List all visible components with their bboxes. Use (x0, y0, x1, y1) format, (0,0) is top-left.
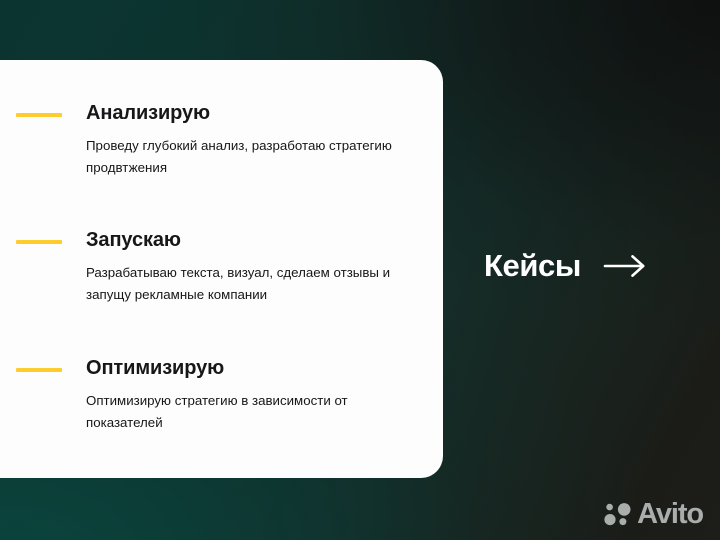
step-title: Оптимизирую (86, 357, 425, 379)
step-item: Оптимизирую Оптимизирую стратегию в зави… (0, 357, 443, 433)
avito-logo: Avito (604, 500, 703, 529)
cases-cta-label: Кейсы (484, 250, 581, 281)
step-description: Проведу глубокий анализ, разработаю стра… (86, 135, 425, 178)
cases-cta[interactable]: Кейсы (484, 250, 647, 281)
step-description: Разрабатываю текста, визуал, сделаем отз… (86, 262, 425, 305)
avito-dots-icon (604, 502, 634, 528)
step-body: Анализирую Проведу глубокий анализ, разр… (86, 102, 443, 178)
step-body: Запускаю Разрабатываю текста, визуал, сд… (86, 229, 443, 305)
step-item: Запускаю Разрабатываю текста, визуал, сд… (0, 229, 443, 305)
step-item: Анализирую Проведу глубокий анализ, разр… (0, 102, 443, 178)
steps-list: Анализирую Проведу глубокий анализ, разр… (0, 60, 443, 478)
step-title: Запускаю (86, 229, 425, 251)
accent-rule (16, 113, 62, 117)
accent-rule (16, 240, 62, 244)
step-description: Оптимизирую стратегию в зависимости от п… (86, 390, 425, 433)
arrow-right-icon (603, 253, 647, 279)
steps-card: Анализирую Проведу глубокий анализ, разр… (0, 60, 443, 478)
avito-wordmark: Avito (637, 500, 703, 529)
step-body: Оптимизирую Оптимизирую стратегию в зави… (86, 357, 443, 433)
accent-rule (16, 368, 62, 372)
step-title: Анализирую (86, 102, 425, 124)
slide-canvas: Анализирую Проведу глубокий анализ, разр… (0, 0, 720, 540)
